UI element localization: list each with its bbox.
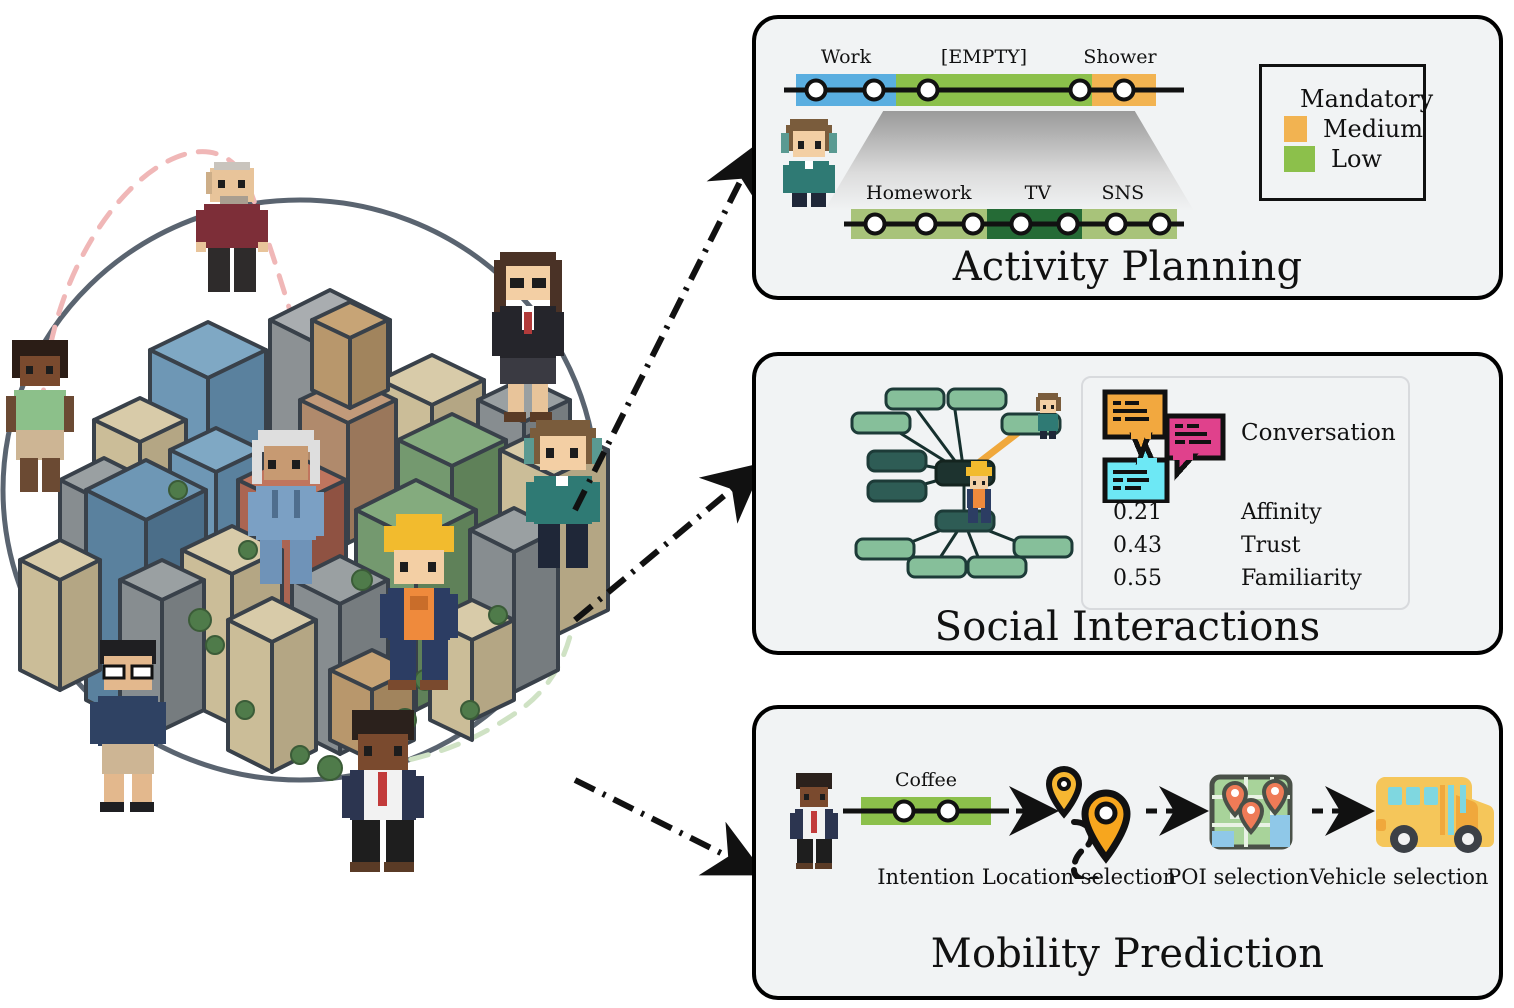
step-label-intention: Intention <box>877 865 975 889</box>
graph-node <box>1014 537 1072 557</box>
daily-activity-timeline: Work [EMPTY] Shower <box>784 74 1184 106</box>
step-label-location-selection: Location selection <box>982 865 1176 889</box>
legend-item-low: Low <box>1284 145 1423 173</box>
social-interactions-panel: Conversation 0.21 Affinity 0.43 Trust 0.… <box>752 352 1503 655</box>
legend-swatch-medium <box>1284 116 1307 142</box>
timeline-node[interactable] <box>1009 213 1032 236</box>
timeline-node[interactable] <box>863 79 886 102</box>
map-poi-icon <box>1212 777 1290 847</box>
timeline-gap-dots <box>952 88 1060 93</box>
agent-office-man <box>342 710 424 872</box>
timeline-label-sns: SNS <box>1101 182 1144 204</box>
legend-swatch-low <box>1284 146 1315 172</box>
step-label-vehicle-selection: Vehicle selection <box>1310 865 1489 889</box>
timeline-node[interactable] <box>1057 213 1080 236</box>
metric-value-affinity: 0.21 <box>1113 500 1162 525</box>
graph-node <box>968 557 1026 577</box>
timeline-node[interactable] <box>962 213 985 236</box>
graph-node <box>868 451 926 471</box>
metric-label-affinity: Affinity <box>1241 500 1322 525</box>
metric-value-trust: 0.43 <box>1113 533 1162 558</box>
step-label-poi-selection: POI selection <box>1167 865 1309 889</box>
decomposed-activity-timeline: Homework TV SNS <box>844 209 1184 239</box>
mobility-pipeline-icons <box>756 739 1507 879</box>
metric-label-trust: Trust <box>1241 533 1301 558</box>
activity-planning-title: Activity Planning <box>756 244 1499 290</box>
graph-node <box>852 413 910 433</box>
timeline-node[interactable] <box>1149 213 1172 236</box>
legend-label-medium: Medium <box>1323 115 1423 143</box>
mobility-prediction-panel: Coffee <box>752 705 1503 1000</box>
legend-label-low: Low <box>1331 145 1382 173</box>
graph-node <box>886 389 944 409</box>
timeline-node[interactable] <box>1069 79 1092 102</box>
metric-label-familiarity: Familiarity <box>1241 566 1362 591</box>
avatar-agent-headphones-man <box>778 115 840 207</box>
timeline-label-work: Work <box>821 46 871 68</box>
metric-value-familiarity: 0.55 <box>1113 566 1162 591</box>
conversation-label: Conversation <box>1241 420 1396 446</box>
speech-bubbles-group <box>1099 388 1234 503</box>
graph-node <box>856 539 914 559</box>
timeline-node[interactable] <box>1113 79 1136 102</box>
graph-node <box>868 481 926 501</box>
speech-bubble-orange <box>1105 392 1165 454</box>
graph-node <box>908 557 966 577</box>
timeline-node[interactable] <box>1105 213 1128 236</box>
connector-arrows <box>560 130 780 890</box>
timeline-label-shower: Shower <box>1083 46 1156 68</box>
legend-label-mandatory: Mandatory <box>1300 85 1433 113</box>
speech-bubble-cyan <box>1105 444 1167 502</box>
timeline-node[interactable] <box>805 79 828 102</box>
interaction-metrics-box: Conversation 0.21 Affinity 0.43 Trust 0.… <box>1081 376 1410 610</box>
priority-legend: Mandatory Medium Low <box>1259 64 1426 201</box>
social-network-graph <box>842 381 1082 581</box>
timeline-label-homework: Homework <box>866 182 972 204</box>
bus-icon <box>1376 777 1494 853</box>
arrow-to-social-interactions <box>575 470 755 620</box>
timeline-node[interactable] <box>914 213 937 236</box>
arrow-to-mobility-prediction <box>575 780 755 870</box>
legend-item-mandatory: Mandatory <box>1284 85 1423 113</box>
mobility-prediction-title: Mobility Prediction <box>756 931 1499 977</box>
timeline-node[interactable] <box>863 213 886 236</box>
map-pin-pair-icon <box>1049 769 1127 879</box>
timeline-node[interactable] <box>917 79 940 102</box>
timeline-label-empty: [EMPTY] <box>941 46 1027 68</box>
speech-bubble-pink <box>1167 416 1223 474</box>
timeline-label-tv: TV <box>1025 182 1051 204</box>
arrow-to-activity-planning <box>575 152 755 510</box>
activity-planning-panel: Work [EMPTY] Shower Homework TV SNS Mand… <box>752 15 1503 300</box>
legend-item-medium: Medium <box>1284 115 1423 143</box>
social-interactions-title: Social Interactions <box>756 604 1499 650</box>
graph-node <box>948 389 1006 409</box>
